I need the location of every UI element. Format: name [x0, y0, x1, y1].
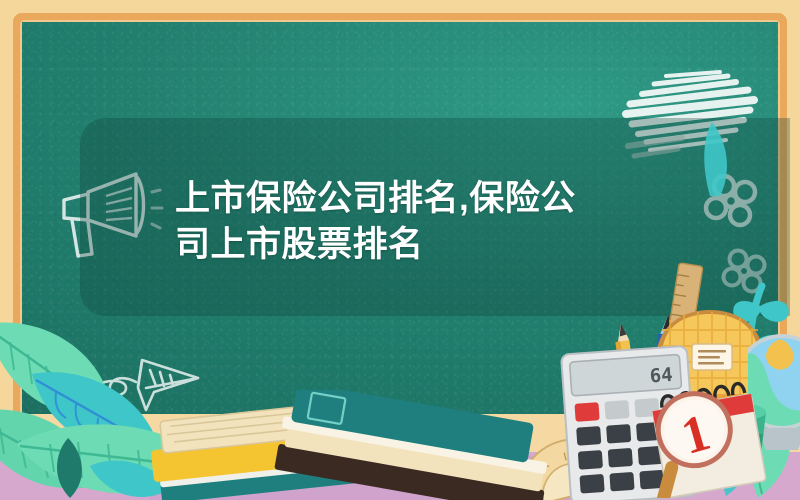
banner-image: 上市保险公司排名,保险公司上市股票排名 [0, 0, 800, 500]
leaf-decoration [676, 120, 742, 198]
leaf-decoration [38, 436, 98, 500]
books-stack [268, 390, 568, 500]
page-title: 上市保险公司排名,保险公司上市股票排名 [175, 176, 605, 268]
magnifying-glass: 1 [640, 386, 748, 498]
